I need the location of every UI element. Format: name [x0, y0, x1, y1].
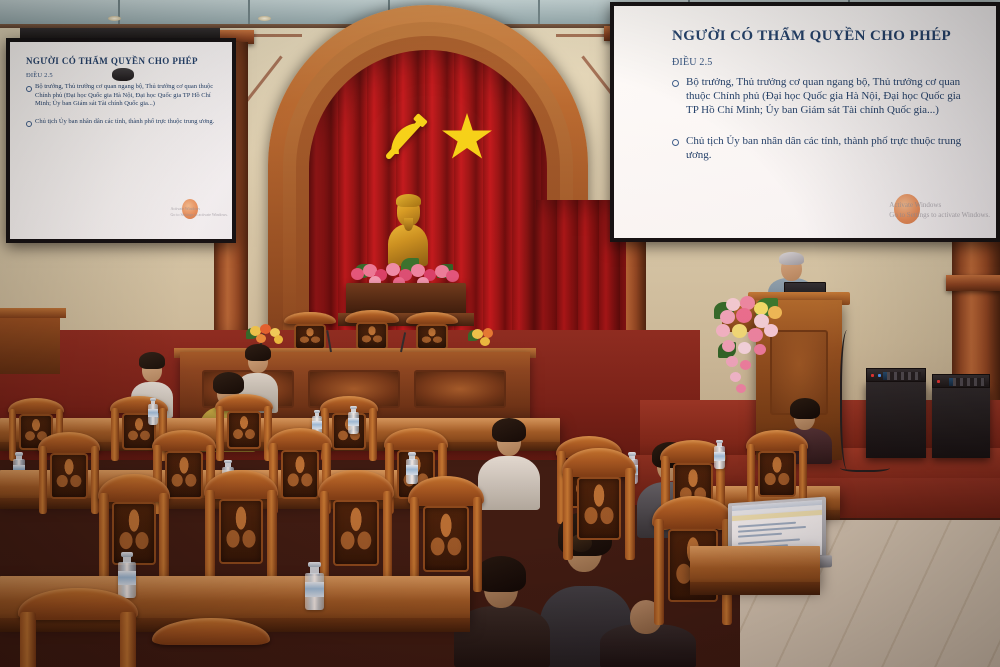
slide-bullet: Bộ trưởng, Thủ trưởng cơ quan ngang bộ, …	[26, 83, 220, 108]
led-indicator-red	[937, 380, 940, 383]
water-bottle[interactable]	[148, 398, 158, 425]
table-edge	[690, 582, 820, 595]
audience-chair[interactable]	[204, 470, 278, 582]
windows-activation-watermark: Activate Windows Go to Settings to activ…	[889, 201, 990, 220]
hammer-and-sickle-icon	[381, 112, 433, 164]
conference-hall-scene: NGƯỜI CÓ THẨM QUYỀN CHO PHÉP ĐIỀU 2.5 Bộ…	[0, 0, 1000, 667]
audience-chair[interactable]	[408, 476, 484, 590]
pilaster-capital	[946, 275, 1000, 291]
slide-bullet-list: Bộ trưởng, Thủ trưởng cơ quan ngang bộ, …	[26, 83, 220, 127]
audience-table-right-fg	[690, 546, 820, 586]
amplifier-unit[interactable]	[866, 368, 926, 382]
slide-bullet: Chủ tịch Ủy ban nhân dân các tỉnh, thành…	[26, 118, 220, 126]
led-indicator-red	[871, 374, 874, 377]
ceiling-light-icon	[108, 16, 121, 21]
slide-title: NGƯỜI CÓ THẨM QUYỀN CHO PHÉP	[26, 56, 220, 66]
audience-chair[interactable]	[38, 432, 100, 512]
windows-activation-watermark: Activate Windows Go to Settings to activ…	[170, 206, 228, 217]
pa-speaker-right	[932, 388, 990, 458]
audience-chair[interactable]	[18, 588, 138, 667]
water-bottle[interactable]	[348, 406, 359, 434]
amp-knobs[interactable]	[887, 372, 921, 380]
audience-chair[interactable]	[562, 448, 636, 558]
podium-cable	[840, 330, 858, 470]
attendee	[478, 418, 540, 508]
ceiling-light-icon	[258, 16, 271, 21]
slide-bullet-list: Bộ trưởng, Thủ trưởng cơ quan ngang bộ, …	[672, 75, 974, 162]
podium-flower-bouquet	[710, 296, 792, 402]
audience-chair[interactable]	[152, 618, 270, 667]
amp-knobs[interactable]	[953, 378, 985, 386]
side-cabinet-top	[0, 308, 66, 318]
floor-cable	[840, 462, 890, 472]
water-bottle[interactable]	[305, 562, 324, 610]
projection-screen-right: NGƯỜI CÓ THẨM QUYỀN CHO PHÉP ĐIỀU 2.5 Bộ…	[610, 2, 1000, 242]
computer-mouse[interactable]	[112, 68, 134, 81]
slide-content-right: NGƯỜI CÓ THẨM QUYỀN CHO PHÉP ĐIỀU 2.5 Bộ…	[614, 6, 996, 238]
slide-title: NGƯỜI CÓ THẨM QUYỀN CHO PHÉP	[672, 28, 974, 45]
slide-subtitle: ĐIỀU 2.5	[672, 57, 974, 68]
audience-chair[interactable]	[215, 394, 273, 460]
amplifier-unit[interactable]	[932, 374, 990, 388]
water-bottle[interactable]	[714, 440, 725, 469]
side-cabinet	[0, 314, 60, 374]
pa-speaker-left	[866, 382, 926, 458]
led-indicator-blue	[878, 374, 881, 377]
slide-bullet: Bộ trưởng, Thủ trưởng cơ quan ngang bộ, …	[672, 75, 974, 118]
presidium-flowers	[466, 324, 508, 350]
slide-bullet: Chủ tịch Ủy ban nhân dân các tỉnh, thành…	[672, 134, 974, 163]
audience-chair[interactable]	[318, 470, 394, 584]
